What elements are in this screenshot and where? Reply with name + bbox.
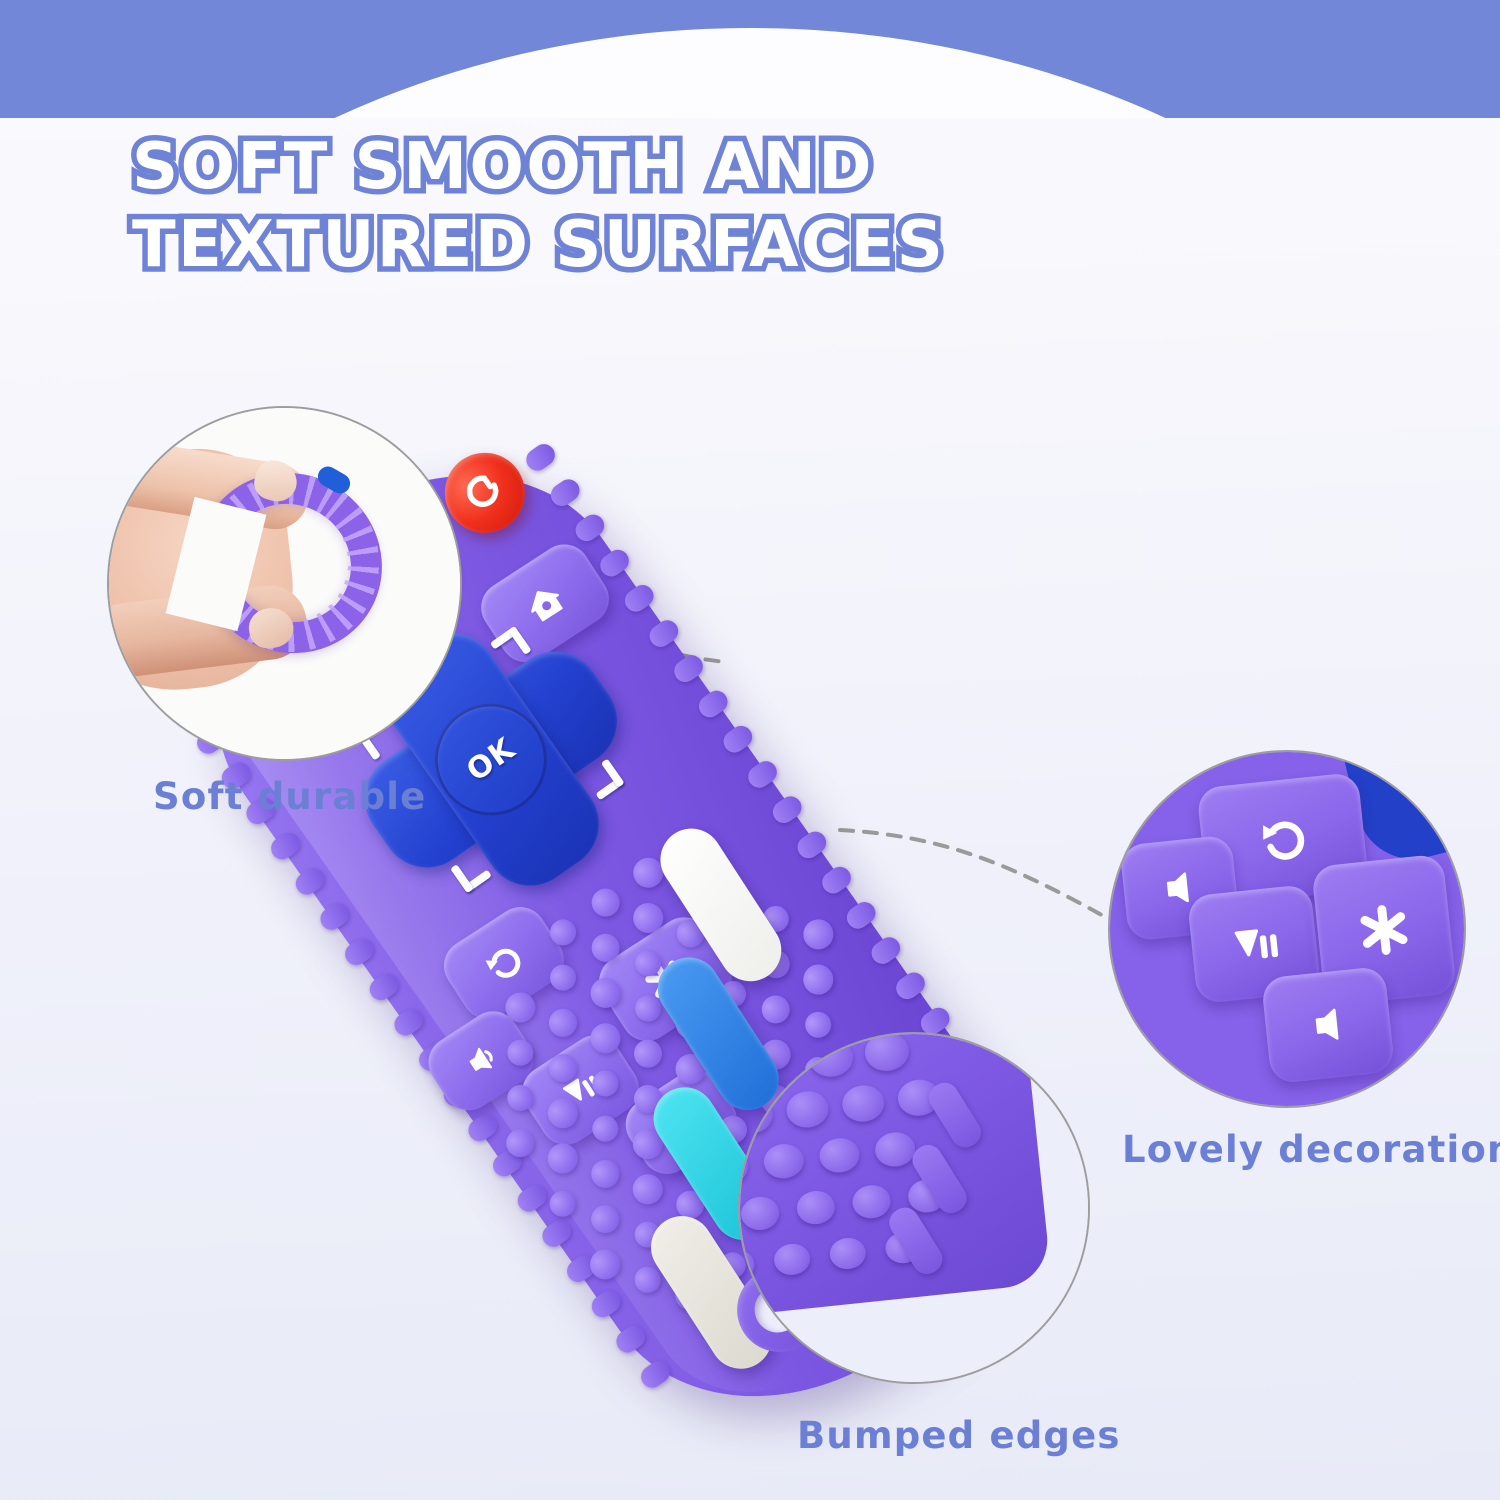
bump-nub	[840, 1083, 886, 1123]
bump-nub	[740, 1195, 781, 1231]
play-pause-icon	[1223, 913, 1285, 975]
zoomed-button-cluster	[1110, 752, 1464, 1106]
bump-nub	[738, 1248, 756, 1283]
title-line-1: SOFT SMOOTH AND	[132, 128, 1132, 206]
callout-label-bumped-edges: Bumped edges	[797, 1414, 1121, 1457]
bump-nub	[874, 1130, 917, 1168]
ok-label: OK	[460, 731, 522, 789]
title-line-2: TEXTURED SURFACES	[132, 206, 1132, 284]
banner-arc-shape	[0, 28, 1500, 118]
zoom-volume-down-button[interactable]	[1261, 966, 1395, 1084]
asterisk-icon	[1349, 895, 1419, 965]
page-title: SOFT SMOOTH AND TEXTURED SURFACES	[132, 128, 1132, 284]
bump-nub	[738, 1095, 775, 1135]
bump-nub	[863, 1032, 911, 1073]
inset-lovely-decoration	[1108, 750, 1466, 1108]
hand-holding-remote-photo	[109, 408, 460, 759]
bump-nub	[738, 1148, 750, 1186]
bump-nub	[785, 1089, 831, 1129]
bumped-surface-slab	[738, 1032, 1052, 1320]
bump-nub	[807, 1036, 855, 1078]
bump-nub	[818, 1136, 861, 1174]
speaker-down-icon	[1299, 996, 1356, 1053]
top-banner	[0, 0, 1500, 118]
bump-nub	[762, 1142, 805, 1180]
inset-soft-durable	[107, 406, 462, 761]
callout-label-soft-durable: Soft durable	[153, 775, 426, 818]
bump-nub	[795, 1189, 836, 1225]
power-icon	[454, 462, 515, 523]
bump-nub	[773, 1242, 812, 1277]
infographic-canvas: SOFT SMOOTH AND TEXTURED SURFACES	[0, 0, 1500, 1500]
bracket-down-right-icon	[583, 759, 625, 801]
edge-tooth	[924, 1077, 987, 1152]
bump-nub	[828, 1236, 867, 1271]
bump-nub	[752, 1042, 800, 1084]
bumped-edge-photo	[740, 1034, 1088, 1382]
inset-bumped-edges	[738, 1032, 1090, 1384]
bump-nub	[851, 1183, 892, 1219]
callout-label-lovely-decoration: Lovely decoration	[1122, 1128, 1500, 1171]
replay-icon	[1251, 807, 1315, 871]
